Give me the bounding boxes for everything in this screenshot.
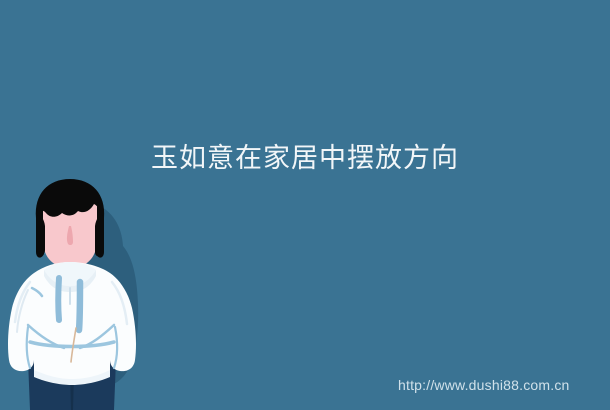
watermark-url: http://www.dushi88.com.cn xyxy=(398,376,570,394)
illustration-young-man xyxy=(0,178,150,410)
page-title: 玉如意在家居中摆放方向 xyxy=(0,141,610,175)
drawstring-right xyxy=(79,282,80,330)
image-canvas: 玉如意在家居中摆放方向 http://www.dushi88.com.cn xyxy=(0,0,610,410)
illustration-svg xyxy=(0,178,150,410)
drawstring-left xyxy=(58,278,59,320)
hoodie xyxy=(8,262,136,381)
